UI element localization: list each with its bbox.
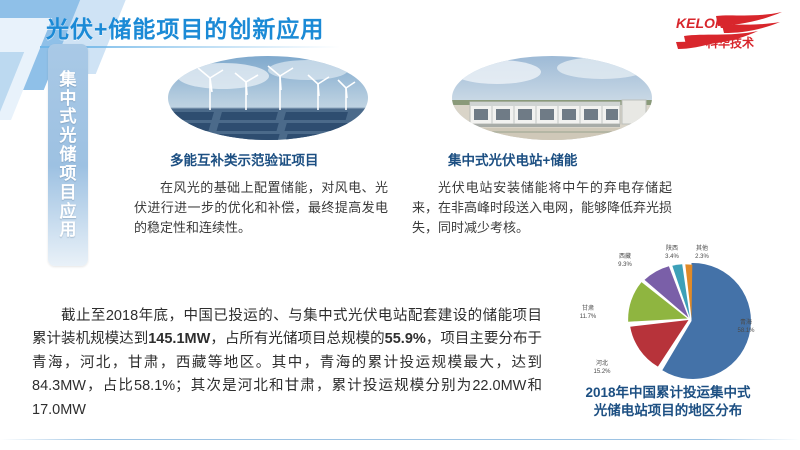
- pie-label-qinghai-name: 青海: [740, 318, 752, 326]
- pie-label-qinghai-pct: 58.1%: [737, 328, 755, 334]
- side-tab-char: 用: [60, 221, 77, 239]
- chart-caption: 2018年中国累计投运集中式 光储电站项目的地区分布: [540, 384, 796, 420]
- panel-body-right: 光伏电站安装储能将中午的弃电存储起来，在非高峰时段送入电网，能够降低弃光损失，同…: [412, 178, 672, 237]
- page-title: 光伏+储能项目的创新应用: [46, 10, 324, 44]
- pie-slices: [628, 263, 751, 379]
- chart-caption-line-2: 光储电站项目的地区分布: [540, 402, 796, 420]
- side-tab-char: 光: [60, 127, 77, 145]
- side-tab-char: 中: [60, 90, 77, 108]
- chart-caption-line-1: 2018年中国累计投运集中式: [540, 384, 796, 402]
- side-tab-char: 目: [60, 184, 77, 202]
- panel-heading-left: 多能互补类示范验证项目: [170, 149, 319, 169]
- pie-label-xizang-name: 西藏: [619, 252, 631, 260]
- pie-slice-qinghai: [662, 263, 751, 379]
- side-tab-char: 集: [60, 71, 77, 89]
- panel-body-left: 在风光的基础上配置储能，对风电、光伏进行进一步的优化和补偿，最终提高发电的稳定性…: [134, 178, 388, 237]
- pie-label-shaanxi-name: 陕西: [666, 244, 678, 252]
- logo-brand-text-cn: 科华技术: [706, 35, 754, 50]
- stat-share-percent: 55.9%: [385, 331, 426, 347]
- pie-label-xizang-pct: 9.3%: [618, 262, 632, 268]
- utility-pv-plus-storage-containers-photo: [452, 56, 652, 140]
- summary-paragraph: 截止至2018年底，中国已投运的、与集中式光伏电站配套建设的储能项目累计装机规模…: [32, 305, 542, 422]
- pie-label-hebei-pct: 15.2%: [593, 369, 611, 375]
- side-tab-char: 项: [60, 165, 77, 183]
- pie-label-gansu-name: 甘肃: [582, 304, 594, 312]
- logo-brand-text: KELONG: [676, 15, 736, 31]
- pie-label-gansu-pct: 11.7%: [580, 314, 597, 320]
- pie-label-shaanxi-pct: 3.4%: [665, 254, 679, 260]
- side-tab-char: 应: [60, 203, 77, 221]
- section-tab-centralized-pv-storage[interactable]: 集 中 式 光 储 项 目 应 用: [48, 44, 88, 266]
- pie-label-other-name: 其他: [696, 244, 708, 252]
- side-tab-char: 式: [60, 108, 77, 126]
- wind-solar-hybrid-plant-photo: [168, 56, 368, 140]
- footer-divider: [0, 439, 800, 441]
- paragraph-part-2: ，占所有光储项目总规模的: [210, 331, 384, 347]
- slide-canvas: 光伏+储能项目的创新应用 KELONG 科华技术 集 中 式 光 储 项 目 应…: [0, 0, 800, 450]
- pie-label-hebei-name: 河北: [596, 359, 608, 367]
- side-tab-char: 储: [60, 146, 77, 164]
- kelong-logo: KELONG 科华技术: [654, 6, 786, 52]
- stat-total-capacity: 145.1MW: [148, 331, 210, 347]
- panel-heading-right: 集中式光伏电站+储能: [448, 149, 577, 169]
- pie-label-other-pct: 2.3%: [695, 254, 709, 260]
